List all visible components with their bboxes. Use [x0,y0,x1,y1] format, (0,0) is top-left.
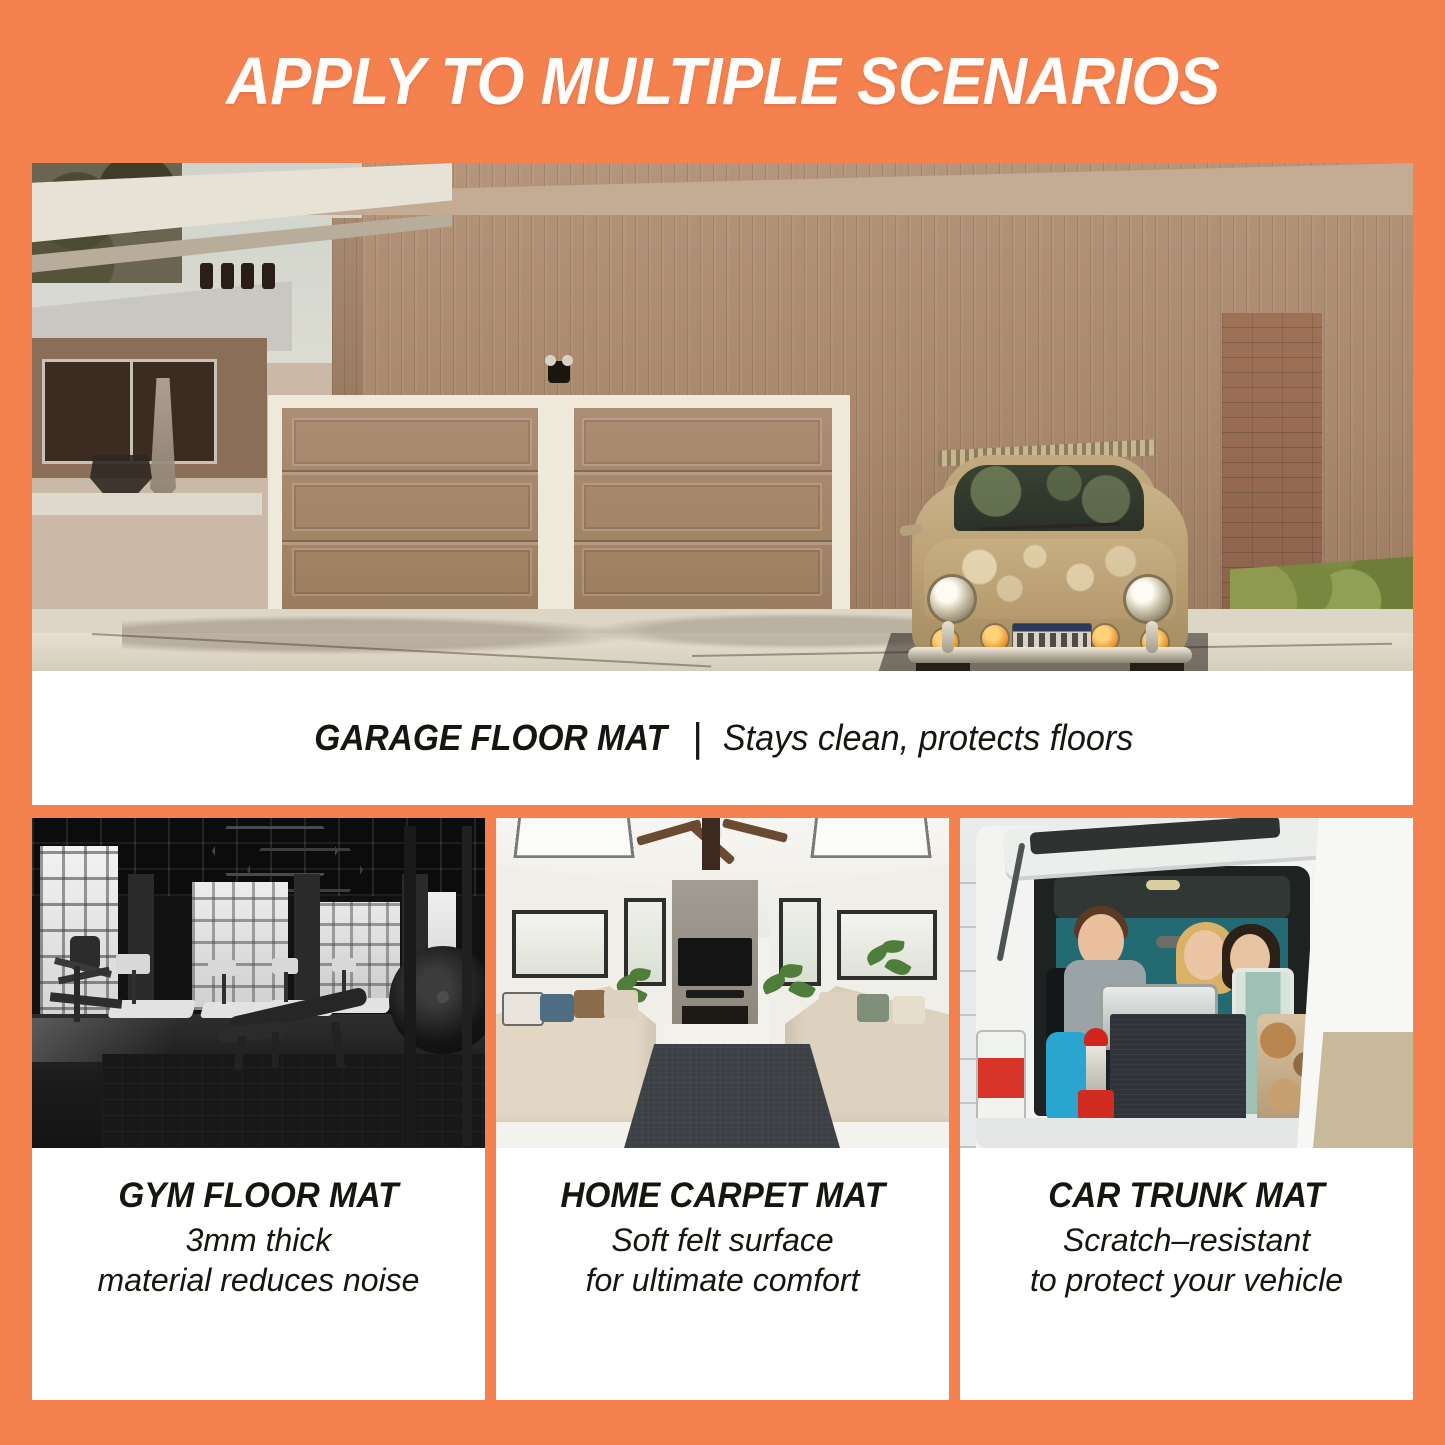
window-left [512,910,608,978]
plant-corner [862,940,914,988]
hero-caption-separator: | [692,716,702,761]
throw-pillow [604,990,638,1018]
woman-face [1184,930,1226,980]
throw-pillow [857,994,889,1022]
gym-scene-photo [32,818,485,1148]
skylight-left [513,818,634,858]
card-title-trunk: CAR TRUNK MAT [1048,1176,1324,1216]
person-khaki-pants [1313,1032,1413,1148]
plant-right [762,964,818,1010]
hero-caption-text: Stays clean, protects floors [723,717,1134,759]
hero-caption-title: GARAGE FLOOR MAT [314,717,667,759]
car-trunk-mat [1110,1014,1246,1130]
headlight-icon [1126,577,1170,621]
squat-rack-frame [462,826,472,1146]
patio-chair [90,455,152,497]
gym-caption: GYM FLOOR MAT 3mm thick material reduces… [32,1148,485,1400]
vintage-car [894,429,1204,671]
floodlight-icon [548,361,570,383]
squat-rack-frame [404,826,416,1146]
card-car-trunk-mat: CAR TRUNK MAT Scratch–resistant to prote… [960,818,1413,1400]
suv-trunk-scene [960,818,1413,1148]
living-room-scene-photo [496,818,949,1148]
card-line1-home: Soft felt surface [611,1221,833,1261]
throw-pillow [540,994,574,1022]
throw-pillow [893,996,925,1024]
gym-interior [32,818,485,1148]
card-home-carpet-mat: HOME CARPET MAT Soft felt surface for ul… [496,818,949,1400]
dome-light-icon [1146,880,1180,890]
porch-slab [32,493,262,515]
rear-bumper [976,1118,1336,1148]
card-line2-trunk: to protect your vehicle [1030,1261,1343,1301]
header-banner: APPLY TO MULTIPLE SCENARIOS [0,0,1445,163]
elliptical-machine [48,936,126,1036]
card-line1-gym: 3mm thick [186,1221,332,1261]
card-title-home: HOME CARPET MAT [560,1176,884,1216]
neighbor-window [42,359,217,464]
card-title-gym: GYM FLOOR MAT [118,1176,398,1216]
card-line2-gym: material reduces noise [98,1261,420,1301]
garage-scene-photo [32,163,1413,671]
fan-downrod [702,818,720,870]
hearth [664,1024,768,1042]
car-trunk-scene-photo [960,818,1413,1148]
trunk-caption: CAR TRUNK MAT Scratch–resistant to prote… [960,1148,1413,1400]
treadmill-post [132,970,136,1004]
card-gym-floor-mat: GYM FLOOR MAT 3mm thick material reduces… [32,818,485,1400]
card-line2-home: for ultimate comfort [586,1261,860,1301]
window-middle [192,882,288,1010]
hero-card: GARAGE FLOOR MAT | Stays clean, protects… [32,163,1413,805]
weight-bench [218,992,378,1070]
headlight-icon [930,577,974,621]
chrome-bumper [908,647,1192,663]
windshield [954,465,1144,531]
hero-caption: GARAGE FLOOR MAT | Stays clean, protects… [32,671,1413,805]
television [678,938,752,986]
home-carpet-mat [624,1044,840,1148]
soundbar [686,990,744,998]
camping-lantern [1078,1028,1114,1120]
house-numbers [200,263,275,289]
throw-pillow [819,992,853,1020]
infographic-page: APPLY TO MULTIPLE SCENARIOS [0,0,1445,1445]
home-caption: HOME CARPET MAT Soft felt surface for ul… [496,1148,949,1400]
living-room-interior [496,818,949,1148]
skylight-right [810,818,931,858]
tail-light [976,1030,1026,1126]
card-line1-trunk: Scratch–resistant [1063,1221,1310,1261]
throw-pillow [574,990,606,1018]
throw-pillow [502,992,544,1026]
page-title: APPLY TO MULTIPLE SCENARIOS [226,43,1219,120]
